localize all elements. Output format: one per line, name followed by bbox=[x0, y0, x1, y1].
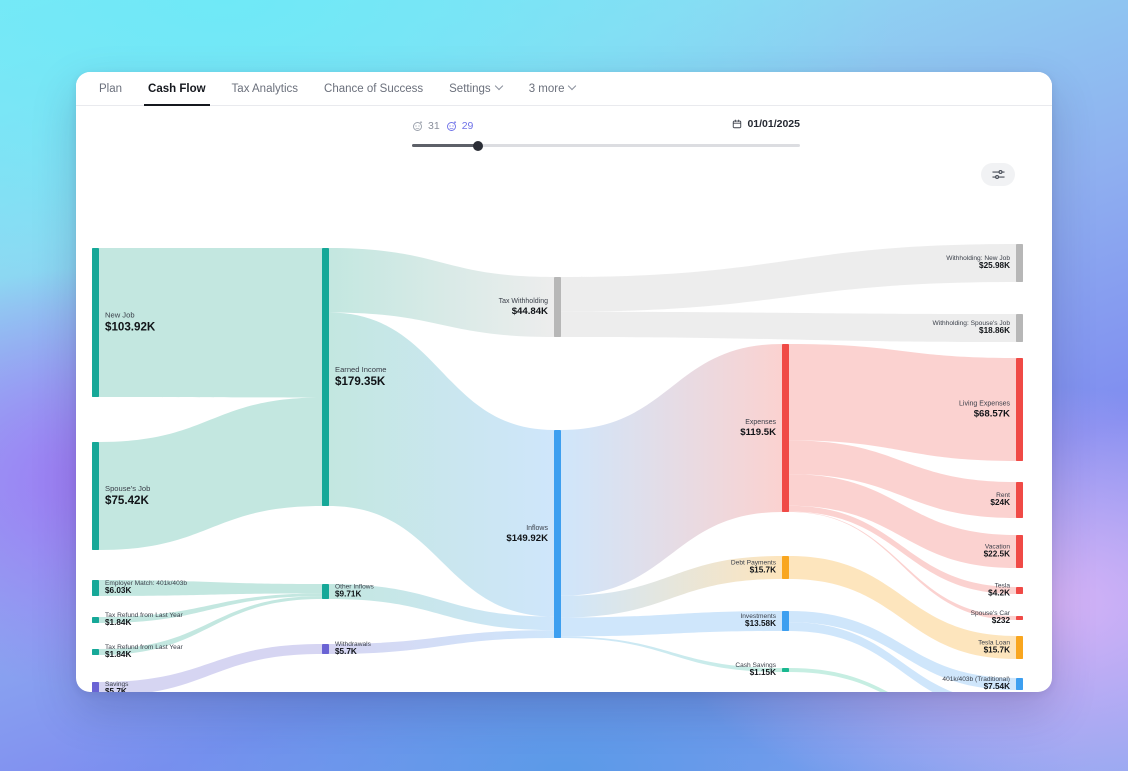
node-label-value: $5.7K bbox=[105, 687, 127, 692]
node-label-name: Tax Withholding bbox=[499, 298, 549, 305]
controls-strip: 31 29 bbox=[76, 106, 1052, 164]
sankey-node-debt-payments[interactable] bbox=[782, 556, 789, 579]
slider-thumb[interactable] bbox=[473, 141, 483, 151]
node-label-value: $18.86K bbox=[979, 326, 1010, 335]
node-label-value: $13.58K bbox=[745, 619, 776, 628]
sankey-link[interactable] bbox=[329, 313, 554, 617]
node-label-name: Spouse's Job bbox=[105, 484, 150, 493]
sankey-node-tesla[interactable] bbox=[1016, 587, 1023, 594]
tab-bar: PlanCash FlowTax AnalyticsChance of Succ… bbox=[76, 72, 1052, 106]
age-chip-primary: 31 bbox=[412, 120, 440, 132]
node-label-value: $1.84K bbox=[105, 618, 131, 627]
timeline-control: 31 29 bbox=[412, 118, 800, 134]
node-label-value: $22.5K bbox=[984, 549, 1010, 558]
person-age-icon bbox=[446, 120, 458, 132]
tab-cash-flow[interactable]: Cash Flow bbox=[135, 72, 219, 105]
node-label-value: $1.84K bbox=[105, 650, 131, 659]
chevron-down-icon bbox=[496, 83, 503, 90]
chevron-down-icon bbox=[569, 83, 576, 90]
app-window: PlanCash FlowTax AnalyticsChance of Succ… bbox=[76, 72, 1052, 692]
node-label-value: $179.35K bbox=[335, 375, 386, 388]
tab-label: 3 more bbox=[529, 83, 565, 95]
calendar-icon bbox=[732, 119, 742, 129]
sankey-node-rent[interactable] bbox=[1016, 482, 1023, 518]
tab-label: Cash Flow bbox=[148, 83, 206, 95]
sankey-node-savings-in[interactable] bbox=[92, 682, 99, 692]
sankey-node-tax-refund-2[interactable] bbox=[92, 649, 99, 655]
sankey-node-tax-refund-1[interactable] bbox=[92, 617, 99, 623]
tab-tax-analytics[interactable]: Tax Analytics bbox=[219, 72, 311, 105]
sankey-node-inflows[interactable] bbox=[554, 430, 561, 638]
sankey-node-wh-spouse-job[interactable] bbox=[1016, 314, 1023, 342]
node-label-value: $7.54K bbox=[984, 682, 1010, 691]
node-label-value: $24K bbox=[990, 498, 1010, 507]
tab-settings[interactable]: Settings bbox=[436, 72, 516, 105]
node-label-value: $232 bbox=[992, 616, 1011, 625]
tab-plan[interactable]: Plan bbox=[86, 72, 135, 105]
sankey-node-spouse-job[interactable] bbox=[92, 442, 99, 550]
node-label-value: $149.92K bbox=[506, 533, 548, 544]
node-label-value: $5.7K bbox=[335, 647, 357, 656]
node-label-value: $68.57K bbox=[974, 409, 1010, 420]
tab-3-more[interactable]: 3 more bbox=[516, 72, 590, 105]
sankey-node-spouse-car[interactable] bbox=[1016, 616, 1023, 620]
sankey-node-expenses[interactable] bbox=[782, 344, 789, 512]
sankey-chart: New Job$103.92KSpouse's Job$75.42KEmploy… bbox=[76, 164, 1052, 692]
sankey-link[interactable] bbox=[99, 398, 322, 550]
sankey-node-withdrawals[interactable] bbox=[322, 644, 329, 654]
node-label-value: $4.2K bbox=[988, 588, 1010, 597]
sankey-node-cash-savings[interactable] bbox=[782, 668, 789, 672]
sankey-node-new-job[interactable] bbox=[92, 248, 99, 397]
node-label-name: Earned Income bbox=[335, 365, 387, 374]
node-label-value: $119.5K bbox=[740, 427, 776, 438]
node-label-value: $15.7K bbox=[984, 645, 1010, 654]
person-age-icon bbox=[412, 120, 424, 132]
sankey-node-tax-withhold[interactable] bbox=[554, 277, 561, 337]
node-label-name: Inflows bbox=[526, 525, 548, 532]
date-value: 01/01/2025 bbox=[747, 118, 800, 130]
node-label-name: New Job bbox=[105, 311, 135, 320]
sankey-node-earned-income[interactable] bbox=[322, 248, 329, 506]
node-label-value: $25.98K bbox=[979, 261, 1010, 270]
age-value-secondary: 29 bbox=[462, 120, 474, 132]
sankey-node-emp-match-in[interactable] bbox=[92, 580, 99, 596]
tab-label: Tax Analytics bbox=[232, 83, 298, 95]
sankey-node-living-exp[interactable] bbox=[1016, 358, 1023, 461]
sankey-node-vacation[interactable] bbox=[1016, 535, 1023, 568]
node-label-value: $9.71K bbox=[335, 589, 361, 598]
node-label-value: $6.03K bbox=[105, 586, 131, 595]
slider-fill bbox=[412, 144, 478, 147]
node-label-name: Living Expenses bbox=[959, 401, 1010, 408]
age-value-primary: 31 bbox=[428, 120, 440, 132]
tab-label: Settings bbox=[449, 83, 491, 95]
node-label-value: $15.7K bbox=[750, 565, 776, 574]
node-label-value: $44.84K bbox=[512, 306, 548, 317]
node-label-value: $75.42K bbox=[105, 494, 149, 507]
node-label-value: $103.92K bbox=[105, 321, 156, 334]
sankey-node-wh-new-job[interactable] bbox=[1016, 244, 1023, 282]
timeline-slider[interactable] bbox=[412, 144, 800, 147]
sankey-node-investments[interactable] bbox=[782, 611, 789, 631]
sankey-node-tesla-loan[interactable] bbox=[1016, 636, 1023, 659]
sankey-node-trad-401k[interactable] bbox=[1016, 678, 1023, 690]
sankey-node-other-inflows[interactable] bbox=[322, 584, 329, 599]
tab-label: Chance of Success bbox=[324, 83, 423, 95]
tab-label: Plan bbox=[99, 83, 122, 95]
date-display[interactable]: 01/01/2025 bbox=[732, 118, 800, 130]
node-label-value: $1.15K bbox=[750, 668, 776, 677]
age-chip-secondary: 29 bbox=[446, 120, 474, 132]
tab-chance-of-success[interactable]: Chance of Success bbox=[311, 72, 436, 105]
sankey-svg: New Job$103.92KSpouse's Job$75.42KEmploy… bbox=[76, 164, 1052, 692]
node-label-name: Expenses bbox=[745, 419, 776, 426]
sankey-link[interactable] bbox=[561, 312, 1016, 342]
